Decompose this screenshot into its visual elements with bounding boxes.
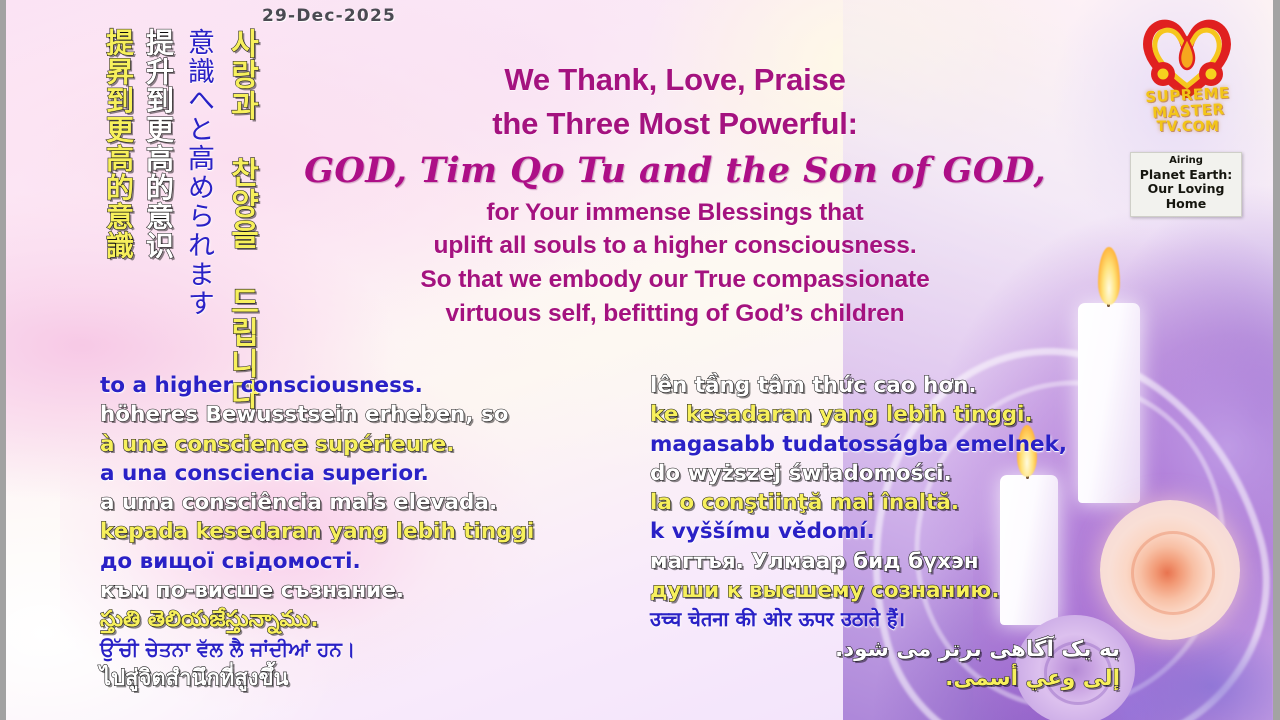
airing-label: Airing [1134, 155, 1238, 168]
subtitle-french: à une conscience supérieure. [100, 430, 660, 459]
subtitle-column-left: to a higher consciousness. höheres Bewus… [100, 371, 660, 693]
title-line-2: the Three Most Powerful: [280, 102, 1070, 146]
vertical-subtitle-chinese-traditional: 提昇到更高的意識 [92, 28, 132, 260]
rose-peach-icon [1100, 500, 1240, 640]
subtitle-german: höheres Bewusstsein erheben, so [100, 400, 660, 429]
channel-logo-text: SUPREME MASTER TV.COM [1125, 88, 1251, 134]
subtitle-czech: k vyššímu vědomí. [650, 517, 1120, 546]
subtitle-persian: به یک آگاهی برتر می شود. [650, 635, 1120, 664]
title-line-1: We Thank, Love, Praise [280, 58, 1070, 102]
subtitle-mongolian: магтъя. Улмаар бид бүхэн [650, 547, 1120, 576]
prayer-body-line-1: for Your immense Blessings that [280, 196, 1070, 230]
vertical-subtitle-korean: 사랑과 찬양을 드립니다 [212, 28, 256, 410]
subtitle-arabic: إلى وعي أسمى. [650, 664, 1120, 693]
subtitle-punjabi: ਉੱਚੀ ਚੇਤਨਾ ਵੱਲ ਲੈ ਜਾਂਦੀਆਂ ਹਨ। [100, 635, 660, 664]
title-line-3-holy: GOD, Tim Qo Tu and the Son of GOD, [280, 149, 1070, 194]
subtitle-portuguese: a uma consciência mais elevada. [100, 488, 660, 517]
subtitle-hungarian: magasabb tudatosságba emelnek, [650, 430, 1120, 459]
subtitle-telugu: స్తుతి తెలియజేస్తున్నాము. [100, 605, 660, 634]
frame-border-left [0, 0, 6, 720]
subtitle-ukrainian: до вищої свідомості. [100, 547, 660, 576]
prayer-body-line-2: uplift all souls to a higher consciousne… [280, 229, 1070, 263]
vertical-subtitle-japanese: 意識へと高められます [172, 28, 212, 318]
frame-border-right [1273, 0, 1280, 720]
prayer-body-line-3: So that we embody our True compassionate [280, 263, 1070, 297]
subtitle-column-right: lên tầng tâm thức cao hơn. ke kesadaran … [650, 371, 1120, 693]
channel-name-line1: SUPREME MASTER [1124, 85, 1251, 123]
subtitle-thai: ไปสู่จิตสำนึกที่สูงขึ้น [100, 664, 660, 693]
subtitle-spanish: a una consciencia superior. [100, 459, 660, 488]
subtitle-english: to a higher consciousness. [100, 371, 660, 400]
subtitle-vietnamese: lên tầng tâm thức cao hơn. [650, 371, 1120, 400]
subtitle-hindi: उच्च चेतना की ओर ऊपर उठाते हैं। [650, 605, 1120, 634]
vertical-subtitle-chinese-simplified: 提升到更高的意识 [132, 28, 172, 260]
subtitle-indonesian: kepada kesedaran yang lebih tinggi [100, 517, 660, 546]
channel-logo[interactable]: SUPREME MASTER TV.COM [1127, 12, 1247, 142]
subtitle-bulgarian: към по-висше съзнание. [100, 576, 660, 605]
prayer-body-line-4: virtuous self, befitting of God’s childr… [280, 297, 1070, 331]
subtitle-malay: ke kesadaran yang lebih tinggi. [650, 400, 1120, 429]
broadcast-slide: 29-Dec-2025 SUPREME MASTER TV.COM Airing… [0, 0, 1280, 720]
vertical-subtitle-group: 사랑과 찬양을 드립니다 意識へと高められます 提升到更高的意识 提昇到更高的意… [92, 28, 256, 410]
airing-program-line2: Our Loving Home [1134, 182, 1238, 212]
subtitle-polish: do wyższej świadomości. [650, 459, 1120, 488]
broadcast-date: 29-Dec-2025 [262, 6, 396, 26]
subtitle-russian: души к высшему сознанию. [650, 576, 1120, 605]
subtitle-romanian: la o conştiinţă mai înaltă. [650, 488, 1120, 517]
airing-badge: Airing Planet Earth: Our Loving Home [1130, 152, 1242, 217]
airing-program-line1: Planet Earth: [1134, 168, 1238, 183]
prayer-title-block: We Thank, Love, Praise the Three Most Po… [280, 58, 1070, 330]
